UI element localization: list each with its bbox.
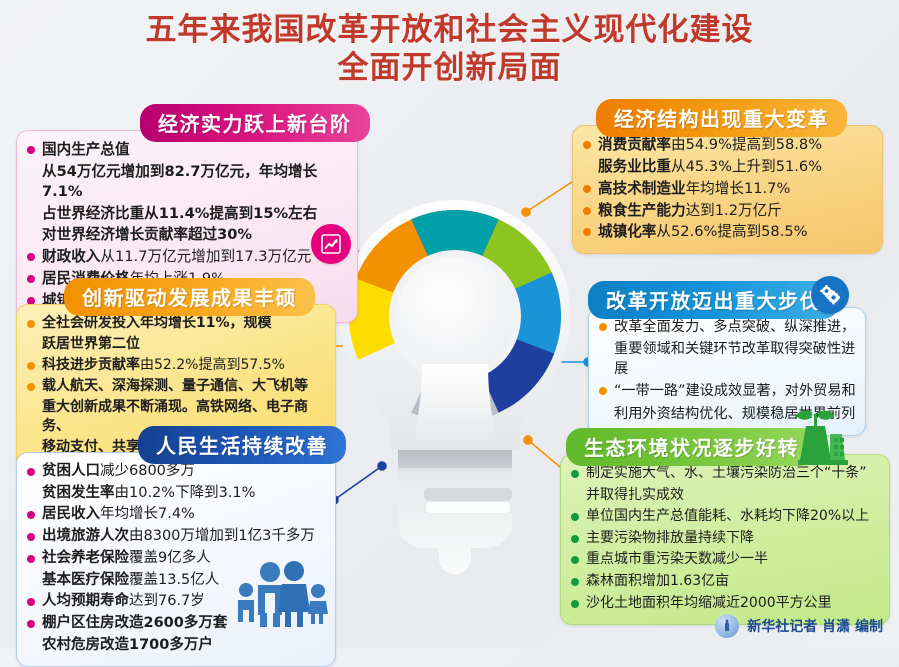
lightbulb-graphic: [330, 192, 580, 612]
xinhua-logo-icon: [715, 614, 739, 638]
panel-structure-heading: 经济结构出现重大变革: [596, 99, 847, 137]
item-text: 并取得扎实成效: [586, 487, 684, 503]
bullet-dot: [571, 578, 579, 586]
item-lead: 贫困发生率: [42, 485, 115, 501]
item-text: 由54.9%提高到58.8%: [671, 136, 822, 153]
title-line-2: 全面开创新局面: [0, 50, 899, 88]
item-text: 对世界经济增长贡献率超过30%: [42, 226, 252, 243]
bullet-dot: [27, 253, 35, 261]
bullet-dot: [27, 511, 35, 519]
bullet-dot: [571, 600, 579, 608]
list-item: 主要污染物排放量持续下降: [571, 529, 879, 549]
list-item: 国内生产总值: [27, 140, 347, 160]
item-lead: 贫困人口: [42, 463, 100, 479]
item-lead: 城镇化率: [598, 223, 656, 240]
bullet-dot: [27, 320, 35, 328]
item-lead: 财政收入: [42, 248, 100, 265]
item-lead: 跃居世界第二位: [42, 336, 140, 352]
panel-structure-body: 消费贡献率由54.9%提高到58.8%服务业比重从45.3%上升到51.6%高技…: [572, 125, 883, 254]
item-text: 年均增长11.7%: [686, 180, 791, 197]
panel-livelihood: 人民生活持续改善 贫困人口减少6800多万贫困发生率由10.2%下降到3.1%居…: [16, 426, 336, 667]
item-lead: 人均预期寿命: [42, 593, 129, 609]
item-text: 改革全面发力、多点突破、纵深推进，: [614, 319, 855, 335]
list-item: 服务业比重从45.3%上升到51.6%: [583, 157, 872, 177]
item-text: 从45.3%上升到51.6%: [671, 158, 822, 175]
bullet-dot: [27, 555, 35, 563]
list-item: 对世界经济增长贡献率超过30%: [27, 225, 347, 245]
list-item: 城镇化率从52.6%提高到58.5%: [583, 222, 872, 242]
item-text: 载人航天、深海探测、量子通信、大飞机等: [42, 378, 308, 394]
bullet-dot: [599, 387, 607, 395]
bullet-dot: [571, 470, 579, 478]
panel-economy-heading: 经济实力跃上新台阶: [140, 104, 370, 142]
list-item: 贫困发生率由10.2%下降到3.1%: [27, 484, 325, 504]
gears-icon: [811, 276, 849, 314]
panel-structure-list: 消费贡献率由54.9%提高到58.8%服务业比重从45.3%上升到51.6%高技…: [583, 135, 872, 242]
bullet-dot: [571, 556, 579, 564]
item-text: 沙化土地面积年均缩减近2000平方公里: [586, 595, 832, 611]
item-text: 从52.6%提高到58.5%: [656, 223, 807, 240]
list-item: 贫困人口减少6800多万: [27, 462, 325, 482]
list-item: 财政收入从11.7万亿元增加到17.3万亿元: [27, 247, 347, 267]
list-item: “一带一路”建设成效显著，对外贸易和: [599, 381, 857, 401]
list-item: 居民收入年均增长7.4%: [27, 505, 325, 525]
item-text: 由52.2%提高到57.5%: [140, 357, 285, 373]
item-lead: 国内生产总值: [42, 141, 130, 158]
list-item: 消费贡献率由54.9%提高到58.8%: [583, 135, 872, 155]
item-text: 减少6800多万: [100, 463, 195, 479]
list-item: 从54万亿元增加到82.7万亿元，年均增长7.1%: [27, 162, 347, 202]
item-lead: 服务业比重: [598, 158, 671, 175]
item-lead: 出境旅游人次: [42, 528, 129, 544]
panel-structure: 经济结构出现重大变革 消费贡献率由54.9%提高到58.8%服务业比重从45.3…: [572, 99, 883, 254]
list-item: 改革全面发力、多点突破、纵深推进，: [599, 317, 857, 337]
item-text: 重点城市重污染天数减少一半: [586, 551, 768, 567]
list-item: 沙化土地面积年均缩减近2000平方公里: [571, 594, 879, 614]
item-text: 由10.2%下降到3.1%: [115, 485, 256, 501]
item-text: 覆盖9亿多人: [129, 550, 211, 566]
panel-ecology-body: 制定实施大气、水、土壤污染防治三个“十条”并取得扎实成效单位国内生产总值能耗、水…: [560, 454, 890, 625]
item-lead: 社会养老保险: [42, 550, 129, 566]
list-item: 重要领域和关键环节改革取得突破性进展: [599, 339, 857, 379]
bullet-dot: [583, 141, 591, 149]
title-line-1: 五年来我国改革开放和社会主义现代化建设: [146, 12, 754, 48]
bullet-dot: [571, 535, 579, 543]
item-text: 森林面积增加1.63亿亩: [586, 573, 729, 589]
bullet-dot: [571, 513, 579, 521]
list-item: 重点城市重污染天数减少一半: [571, 550, 879, 570]
item-text: 由8300万增加到1亿3千多万: [129, 528, 315, 544]
chart-arrow-up-icon: [311, 224, 351, 264]
bullet-dot: [27, 620, 35, 628]
item-lead: 全社会研发投入年均增长11%，规模: [42, 315, 272, 331]
bullet-dot: [27, 468, 35, 476]
item-text: 年均增长7.4%: [100, 506, 195, 522]
item-lead: 高技术制造业: [598, 180, 686, 197]
item-text: 占世界经济比重从11.4%提高到15%左右: [42, 205, 317, 222]
item-text: “一带一路”建设成效显著，对外贸易和: [614, 383, 856, 399]
bullet-dot: [27, 533, 35, 541]
item-lead: 棚户区住房改造2600多万套: [42, 615, 227, 631]
item-text: 覆盖13.5亿人: [129, 572, 219, 588]
panel-ecology-list: 制定实施大气、水、土壤污染防治三个“十条”并取得扎实成效单位国内生产总值能耗、水…: [571, 464, 879, 613]
item-text: 达到76.7岁: [129, 593, 205, 609]
item-lead: 基本医疗保险: [42, 572, 129, 588]
bullet-dot: [583, 207, 591, 215]
item-text: 从54万亿元增加到82.7万亿元，年均增长7.1%: [42, 163, 317, 200]
bullet-dot: [27, 146, 35, 154]
bullet-dot: [583, 228, 591, 236]
list-item: 单位国内生产总值能耗、水耗均下降20%以上: [571, 507, 879, 527]
item-lead: 居民收入: [42, 506, 100, 522]
item-lead: 科技进步贡献率: [42, 357, 140, 373]
bullet-dot: [583, 185, 591, 193]
list-item: 农村危房改造1700多万户: [27, 636, 325, 656]
list-item: 森林面积增加1.63亿亩: [571, 572, 879, 592]
list-item: 出境旅游人次由8300万增加到1亿3千多万: [27, 527, 325, 547]
item-lead: 粮食生产能力: [598, 202, 686, 219]
item-text: 达到1.2万亿斤: [686, 202, 782, 219]
page-title: 五年来我国改革开放和社会主义现代化建设 全面开创新局面: [0, 12, 899, 88]
footer-credit: 新华社记者 肖潇 编制: [715, 614, 883, 638]
panel-reform-heading: 改革开放迈出重大步伐: [588, 281, 839, 319]
list-item: 跃居世界第二位: [27, 335, 325, 354]
list-item: 科技进步贡献率由52.2%提高到57.5%: [27, 356, 325, 375]
item-text: 重要领域和关键环节改革取得突破性进展: [614, 341, 855, 377]
list-item: 占世界经济比重从11.4%提高到15%左右: [27, 204, 347, 224]
bullet-dot: [27, 383, 35, 391]
eco-factory-icon: [778, 406, 852, 468]
bullet-dot: [27, 598, 35, 606]
panel-innovation-heading: 创新驱动发展成果丰硕: [64, 278, 315, 316]
credit-text: 新华社记者 肖潇 编制: [747, 616, 883, 636]
list-item: 粮食生产能力达到1.2万亿斤: [583, 201, 872, 221]
item-text: 从11.7万亿元增加到17.3万亿元: [100, 248, 311, 265]
item-lead: 农村危房改造1700多万户: [42, 637, 213, 653]
list-item: 载人航天、深海探测、量子通信、大飞机等: [27, 377, 325, 396]
bullet-dot: [27, 362, 35, 370]
list-item: 高技术制造业年均增长11.7%: [583, 179, 872, 199]
infographic-canvas: 五年来我国改革开放和社会主义现代化建设 全面开创新局面 经济实力跃上新台阶 国内…: [0, 0, 899, 648]
item-lead: 消费贡献率: [598, 136, 671, 153]
panel-livelihood-heading: 人民生活持续改善: [138, 426, 346, 464]
list-item: 全社会研发投入年均增长11%，规模: [27, 314, 325, 333]
item-text: 单位国内生产总值能耗、水耗均下降20%以上: [586, 508, 869, 524]
item-text: 主要污染物排放量持续下降: [586, 530, 754, 546]
bullet-dot: [599, 323, 607, 331]
bullet-dot: [27, 275, 35, 283]
family-icon: [232, 558, 330, 630]
list-item: 并取得扎实成效: [571, 486, 879, 506]
